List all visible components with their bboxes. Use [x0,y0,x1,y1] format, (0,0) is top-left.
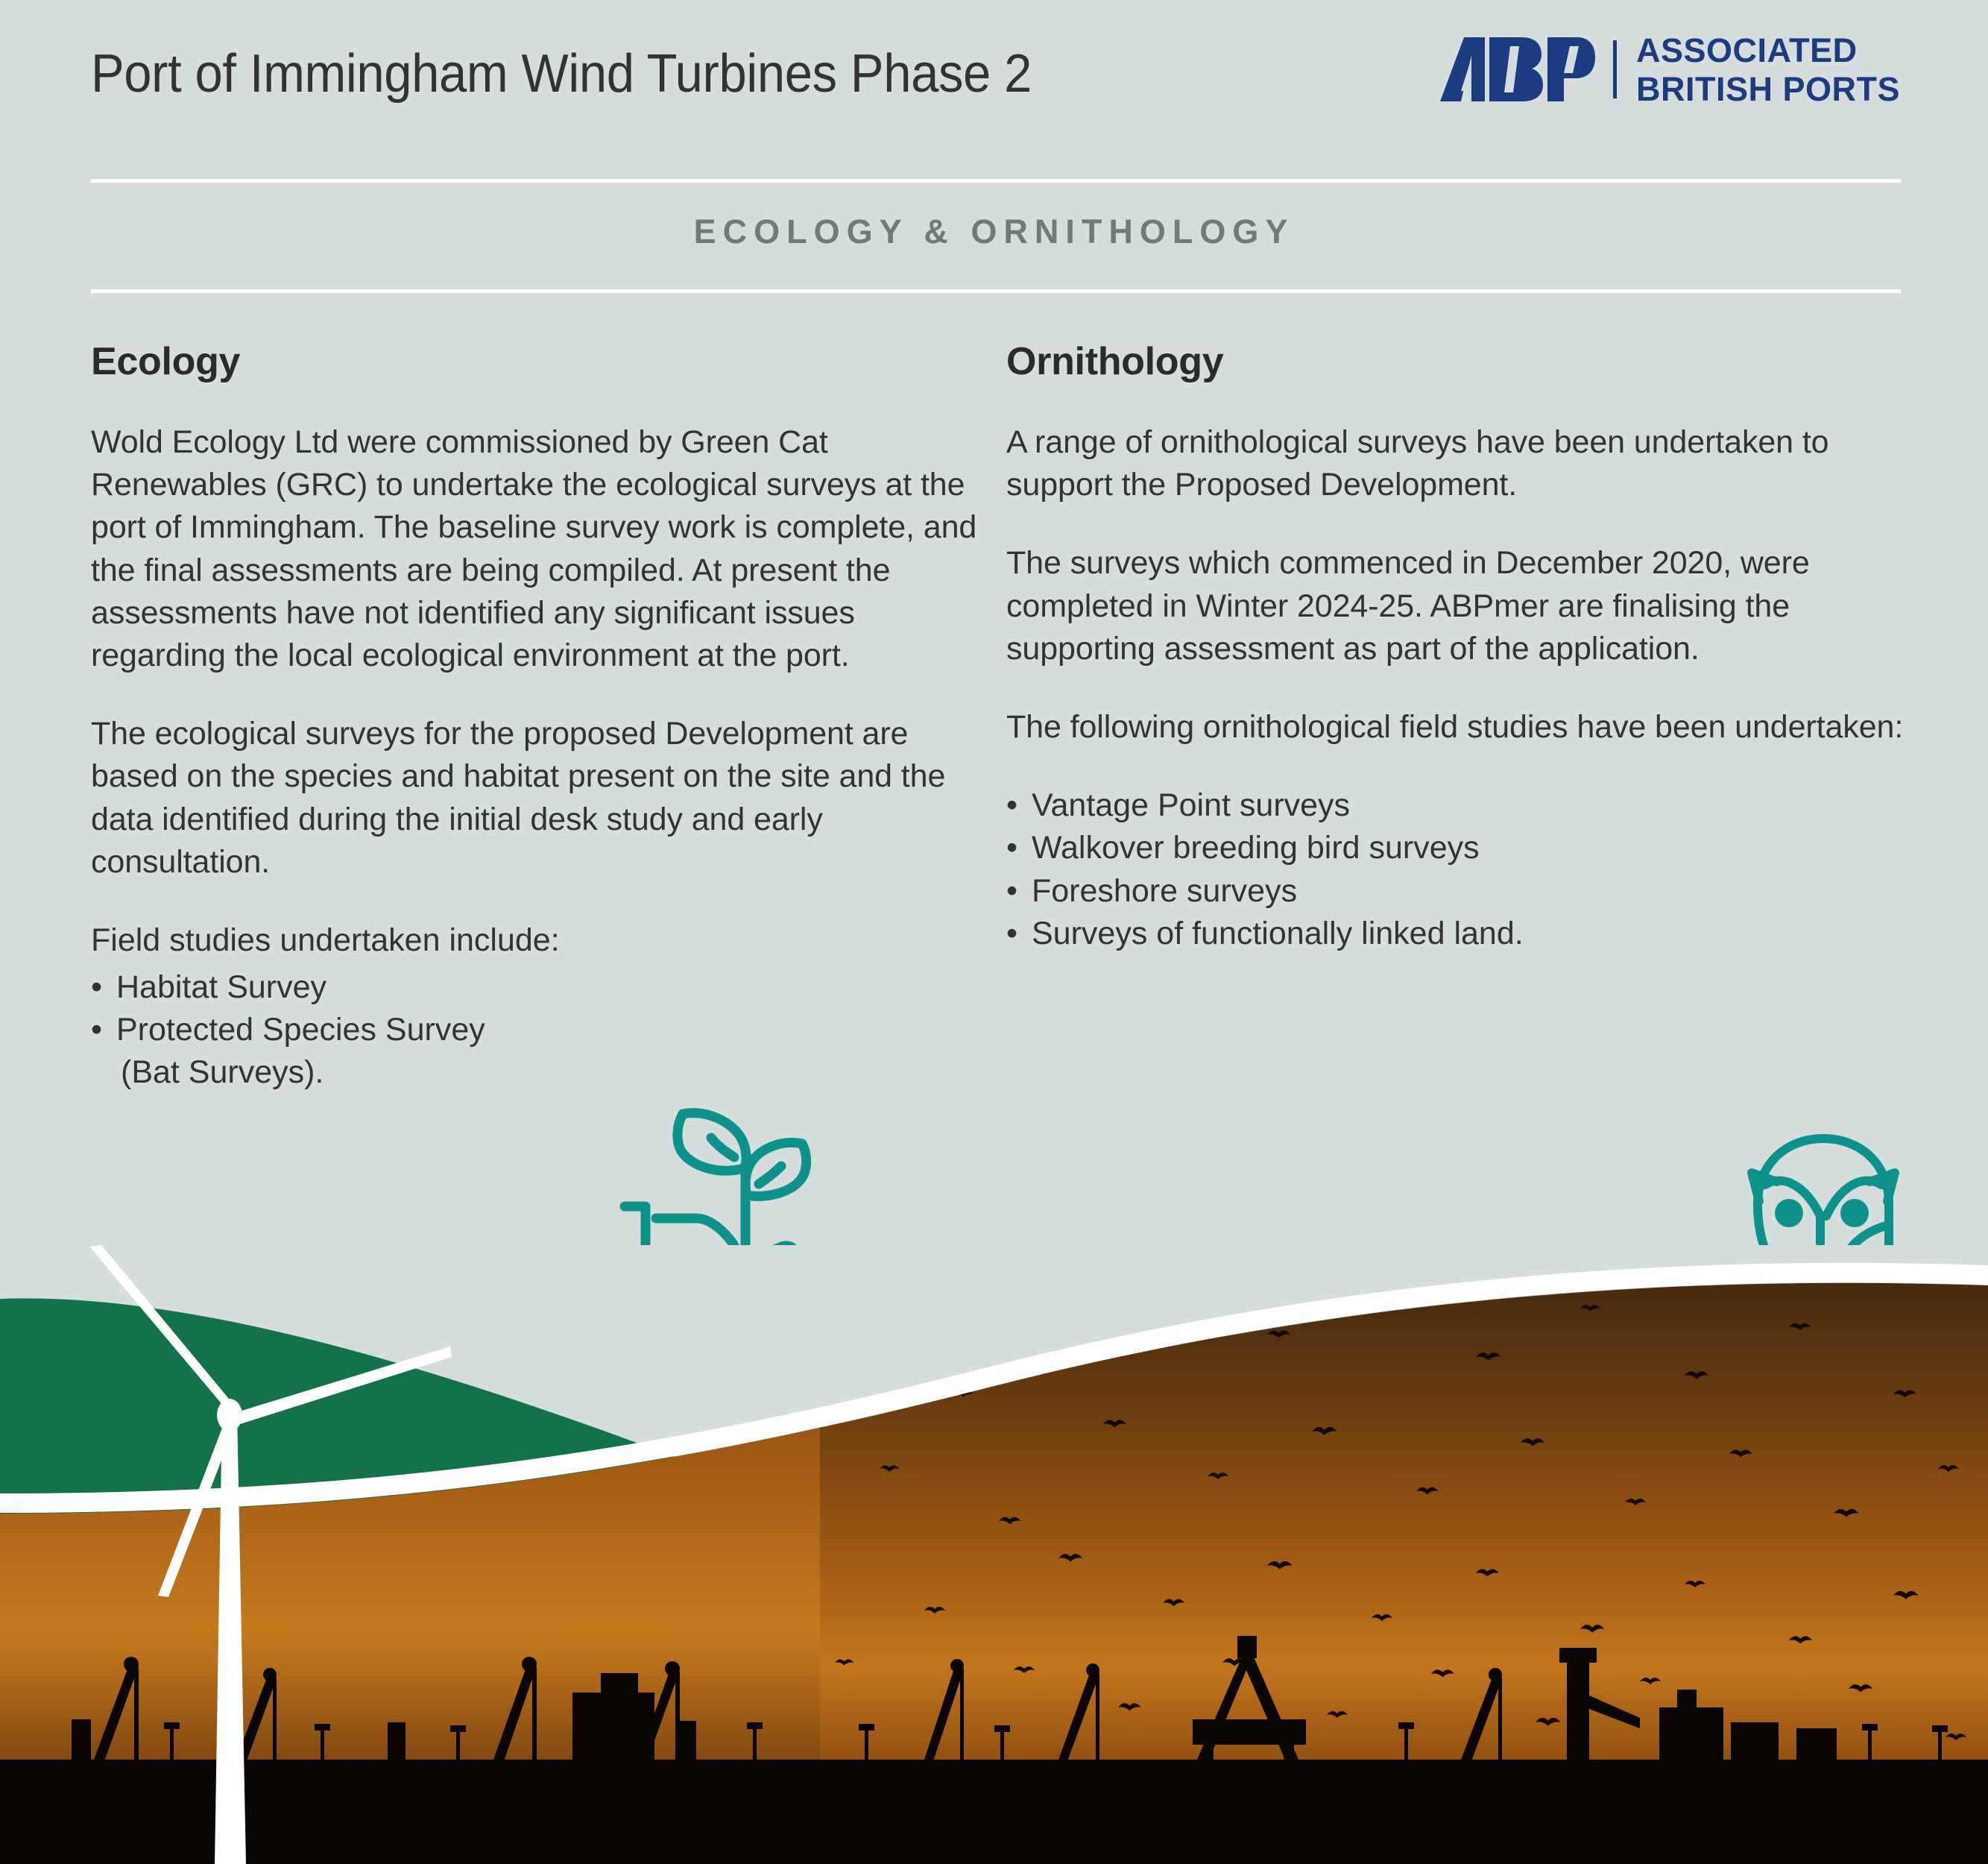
ornithology-bullet-1: Vantage Point surveys [1032,787,1350,823]
ecology-bullet-list: Habitat Survey Protected Species Survey … [91,966,993,1095]
ecology-list-lead-in: Field studies undertaken include: [91,919,993,962]
section-title: ECOLOGY & ORNITHOLOGY [0,212,1988,251]
abp-logo: ASSOCIATED BRITISH PORTS [1439,36,1900,103]
logo-line-2: BRITISH PORTS [1636,72,1900,106]
column-ornithology: Ornithology A range of ornithological su… [1006,339,1923,1095]
poster-board: Port of Immingham Wind Turbines Phase 2 … [0,0,1988,1864]
ornithology-heading: Ornithology [1006,339,1923,384]
divider-top [91,179,1901,183]
list-item: Walkover breeding bird surveys [1006,827,1923,869]
abp-logo-mark-icon [1439,36,1595,103]
ornithology-bullet-4: Surveys of functionally linked land. [1032,916,1524,951]
bottom-artwork [0,1245,1988,1864]
artwork-scene [0,1245,1988,1864]
logo-wordmark: ASSOCIATED BRITISH PORTS [1636,34,1900,106]
ecology-bullet-2-continuation: (Bat Surveys). [116,1051,993,1094]
poster-header: Port of Immingham Wind Turbines Phase 2 … [0,0,1988,173]
ornithology-paragraph-1: A range of ornithological surveys have b… [1006,421,1923,506]
list-item: Habitat Survey [91,966,993,1009]
column-ecology: Ecology Wold Ecology Ltd were commission… [91,339,993,1095]
ecology-paragraph-2: The ecological surveys for the proposed … [91,713,993,884]
page-title: Port of Immingham Wind Turbines Phase 2 [91,43,1032,104]
ecology-bullet-2: Protected Species Survey [116,1012,485,1048]
ecology-paragraph-1: Wold Ecology Ltd were commissioned by Gr… [91,421,993,677]
divider-bottom [91,289,1901,293]
list-item: Vantage Point surveys [1006,784,1923,827]
ornithology-bullet-list: Vantage Point surveys Walkover breeding … [1006,784,1923,955]
logo-divider-rule [1613,40,1617,98]
ornithology-list-lead-in: The following ornithological field studi… [1006,706,1923,749]
logo-line-1: ASSOCIATED [1636,34,1900,67]
ornithology-bullet-3: Foreshore surveys [1032,873,1297,909]
ornithology-paragraph-2: The surveys which commenced in December … [1006,542,1923,670]
list-item: Surveys of functionally linked land. [1006,913,1923,955]
list-item: Protected Species Survey (Bat Surveys). [91,1009,993,1094]
ecology-heading: Ecology [91,339,993,384]
content-columns: Ecology Wold Ecology Ltd were commission… [0,339,1988,1095]
ornithology-bullet-2: Walkover breeding bird surveys [1032,830,1480,866]
list-item: Foreshore surveys [1006,870,1923,913]
ecology-bullet-1: Habitat Survey [116,969,326,1005]
